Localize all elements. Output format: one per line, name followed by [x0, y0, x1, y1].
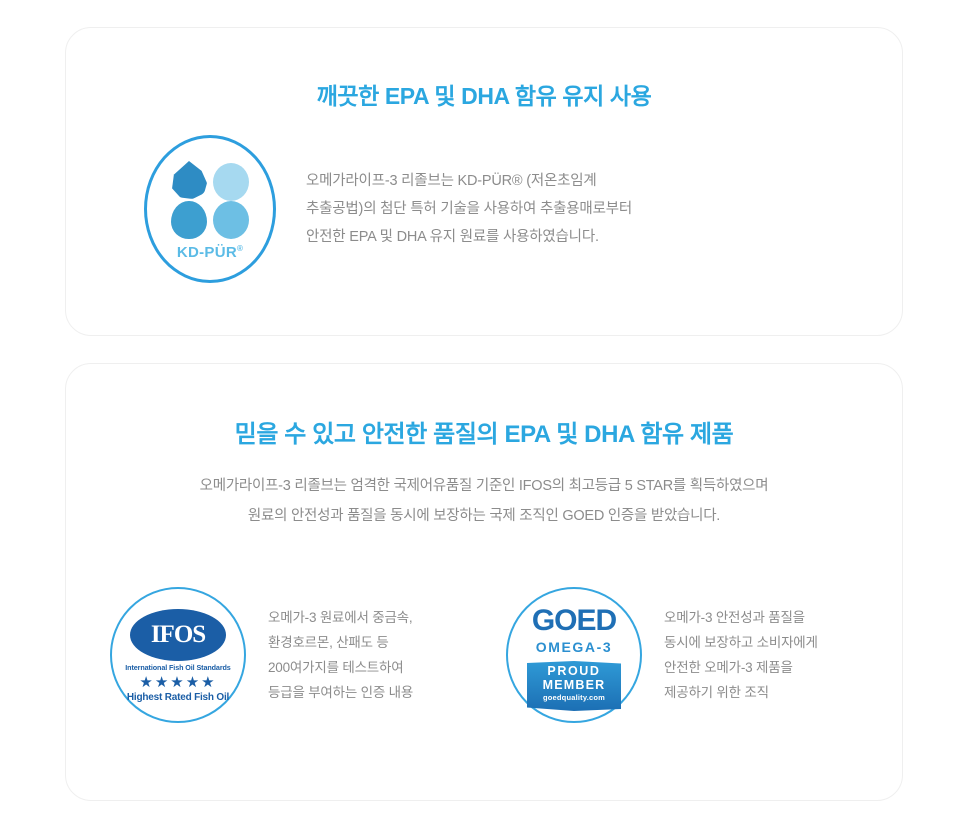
trademark-icon: ™ — [214, 613, 220, 619]
card-one-body-line-1: 오메가라이프-3 리졸브는 KD-PÜR® (저온초임계 — [306, 167, 632, 195]
ifos-wordmark-ellipse: IFOS ™ — [130, 609, 226, 661]
ifos-caption-line-4: 등급을 부여하는 인증 내용 — [268, 680, 413, 705]
ifos-subtitle: International Fish Oil Standards — [112, 663, 244, 672]
goed-caption: 오메가-3 안전성과 품질을 동시에 보장하고 소비자에게 안전한 오메가-3 … — [642, 605, 818, 705]
card-two-lead-line-1: 오메가라이프-3 리졸브는 엄격한 국제어유품질 기준인 IFOS의 최고등급 … — [66, 471, 902, 501]
card-one-title: 깨끗한 EPA 및 DHA 함유 유지 사용 — [66, 28, 902, 111]
card-two-title: 믿을 수 있고 안전한 품질의 EPA 및 DHA 함유 제품 — [66, 364, 902, 449]
card-one-body: 오메가라이프-3 리졸브는 KD-PÜR® (저온초임계 추출공법)의 첨단 특… — [294, 167, 632, 251]
goed-badge-block: GOED OMEGA-3 PROUD MEMBER goedquality.co… — [506, 587, 818, 723]
water-drop-icon-bottom-right — [213, 201, 249, 239]
goed-caption-line-1: 오메가-3 안전성과 품질을 — [664, 605, 818, 630]
kd-pur-logo: KD-PÜR® — [144, 135, 276, 283]
kd-pur-logo-container: KD-PÜR® — [126, 135, 294, 283]
goed-caption-line-2: 동시에 보장하고 소비자에게 — [664, 630, 818, 655]
goed-subtitle: OMEGA-3 — [508, 639, 640, 655]
goed-banner-line-1: PROUD — [527, 664, 621, 678]
ifos-tagline: Highest Rated Fish Oil — [112, 692, 244, 703]
five-star-rating-icon: ★★★★★ — [112, 675, 244, 691]
ifos-badge-block: IFOS ™ International Fish Oil Standards … — [110, 587, 506, 723]
goed-caption-line-3: 안전한 오메가-3 제품을 — [664, 655, 818, 680]
goed-banner-url: goedquality.com — [527, 692, 621, 703]
ifos-badge: IFOS ™ International Fish Oil Standards … — [110, 587, 246, 723]
card-one-body-line-3: 안전한 EPA 및 DHA 유지 원료를 사용하였습니다. — [306, 223, 632, 251]
ifos-caption-line-3: 200여가지를 테스트하여 — [268, 655, 413, 680]
water-drop-icon-bottom-left — [171, 201, 207, 239]
card-two-lead-line-2: 원료의 안전성과 품질을 동시에 보장하는 국제 조직인 GOED 인증을 받았… — [66, 501, 902, 531]
product-certification-page: 깨끗한 EPA 및 DHA 함유 유지 사용 — [0, 0, 966, 831]
kd-pur-droplets — [171, 161, 249, 239]
ifos-wordmark: IFOS — [151, 621, 205, 649]
ifos-caption-line-2: 환경호르몬, 산패도 등 — [268, 630, 413, 655]
goed-proud-member-banner: PROUD MEMBER goedquality.com — [527, 661, 621, 711]
ifos-caption-line-1: 오메가-3 원료에서 중금속, — [268, 605, 413, 630]
card-clean-epa-dha: 깨끗한 EPA 및 DHA 함유 유지 사용 — [65, 27, 903, 336]
card-two-lead-paragraph: 오메가라이프-3 리졸브는 엄격한 국제어유품질 기준인 IFOS의 최고등급 … — [66, 471, 902, 531]
certification-badge-row: IFOS ™ International Fish Oil Standards … — [66, 587, 902, 723]
card-one-body-line-2: 추출공법)의 첨단 특허 기술을 사용하여 추출용매로부터 — [306, 195, 632, 223]
kd-pur-label: KD-PÜR® — [144, 244, 276, 261]
water-drop-icon-top-right — [213, 163, 249, 201]
ifos-caption: 오메가-3 원료에서 중금속, 환경호르몬, 산패도 등 200여가지를 테스트… — [246, 605, 413, 705]
goed-banner-line-2: MEMBER — [527, 678, 621, 692]
water-drop-icon-top-left — [171, 161, 207, 199]
goed-badge: GOED OMEGA-3 PROUD MEMBER goedquality.co… — [506, 587, 642, 723]
registered-mark-icon: ® — [237, 244, 243, 253]
card-trusted-quality: 믿을 수 있고 안전한 품질의 EPA 및 DHA 함유 제품 오메가라이프-3… — [65, 363, 903, 801]
card-one-content-row: KD-PÜR® 오메가라이프-3 리졸브는 KD-PÜR® (저온초임계 추출공… — [66, 135, 902, 283]
kd-pur-label-text: KD-PÜR — [177, 244, 237, 261]
goed-caption-line-4: 제공하기 위한 조직 — [664, 680, 818, 705]
goed-wordmark: GOED — [508, 606, 640, 636]
